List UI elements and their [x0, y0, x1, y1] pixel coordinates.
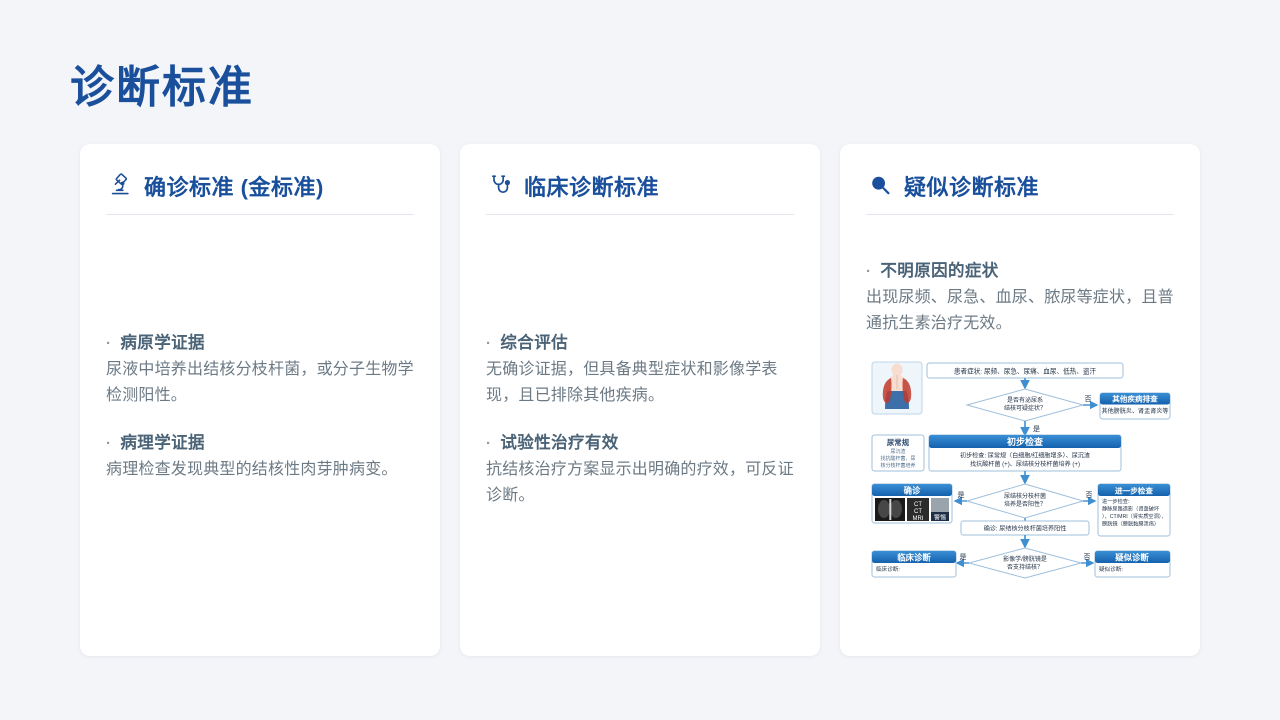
bullet-item: · 病理学证据 病理检查发现典型的结核性肉芽肿病变。 [106, 429, 414, 483]
card-title: 临床诊断标准 [524, 170, 659, 202]
flow-decision2-line2: 培养是否阳性？ [1004, 500, 1046, 508]
flow-symptoms-text: 患者症状: 尿频、尿急、尿痛、血尿、低热、盗汗 [954, 366, 1097, 375]
flow-further-l3: ）、CT/MRI（肾实质空洞）、 [1102, 512, 1167, 520]
flow-further-l4: 膀胱镜（膀胱黏膜溃疡） [1102, 519, 1159, 527]
bullet-item: · 不明原因的症状 出现尿频、尿急、血尿、脓尿等症状，且普通抗生素治疗无效。 [866, 257, 1174, 337]
bullet-list: · 病原学证据 尿液中培养出结核分枝杆菌，或分子生物学检测阳性。 · 病理学证据… [106, 329, 414, 503]
page-title: 诊断标准 [70, 62, 254, 115]
bullet-heading-row: · 不明原因的症状 [866, 257, 1174, 281]
flow-edge-no-1: 否 [1085, 395, 1092, 403]
card-title: 确诊标准 (金标准) [144, 170, 324, 202]
flow-decision3-line2: 否支持结核？ [1007, 563, 1043, 571]
card-title: 疑似诊断标准 [904, 170, 1039, 202]
card-confirmed-diagnosis[interactable]: 确诊标准 (金标准) · 病原学证据 尿液中培养出结核分枝杆菌，或分子生物学检测… [80, 144, 440, 656]
flow-clinical-title: 临床诊断 [897, 552, 931, 562]
chest-xray-ct-mri-thumbnails: CT CT MRI 警惕 [875, 498, 949, 522]
bullet-heading: 综合评估 [500, 329, 568, 353]
bullet-heading: 病理学证据 [120, 429, 205, 453]
bullet-dot-icon: · [106, 336, 111, 351]
flow-decision1-line1: 是否有泌尿系 [1007, 396, 1043, 404]
card-header: 疑似诊断标准 [866, 170, 1174, 215]
bullet-heading-row: · 病原学证据 [106, 329, 414, 353]
flow-other-disease-body: 其他膀胱炎、肾盂肾炎等 [1101, 407, 1168, 415]
flow-further-title: 进一步检查 [1115, 485, 1153, 495]
flow-edge-no-2: 否 [1086, 491, 1093, 499]
card-header: 确诊标准 (金标准) [106, 170, 414, 215]
flow-decision2-line1: 尿结核分枝杆菌 [1004, 492, 1046, 500]
flow-further-l1: 进一步检查: [1102, 497, 1129, 505]
flow-node-symptoms: 患者症状: 尿频、尿急、尿痛、血尿、低热、盗汗 [927, 363, 1123, 378]
bullet-list: · 不明原因的症状 出现尿频、尿急、血尿、脓尿等症状，且普通抗生素治疗无效。 [866, 257, 1174, 343]
flow-decision3-line1: 影像学/膀胱镜是 [1003, 555, 1047, 563]
bullet-heading-row: · 病理学证据 [106, 429, 414, 453]
magnifier-icon [866, 172, 894, 200]
flow-suspect-body: 疑似诊断: [1099, 565, 1123, 573]
bullet-heading-row: · 试验性治疗有效 [486, 429, 794, 453]
bullet-body: 无确诊证据，但具备典型症状和影像学表现，且已排除其他疾病。 [486, 357, 794, 409]
flow-decision-imaging-support: 影像学/膀胱镜是 否支持结核？ [969, 548, 1081, 578]
flow-suspect-title: 疑似诊断 [1115, 552, 1149, 562]
bullet-body: 病理检查发现典型的结核性肉芽肿病变。 [106, 457, 414, 483]
flow-node-suspected-diagnosis: 疑似诊断 疑似诊断: [1095, 551, 1170, 577]
flow-decision-suspected-symptoms: 是否有泌尿系 结核可疑症状？ [967, 389, 1083, 421]
flow-urine-side-l2: 找抗酸杆菌、尿 [880, 455, 915, 462]
microscope-icon [106, 172, 134, 200]
flow-decision-culture-positive: 尿结核分枝杆菌 培养是否阳性？ [967, 484, 1083, 518]
flow-node-further-exam: 进一步检查 进一步检查: 静脉尿路造影（肾盏破坏 ）、CT/MRI（肾实质空洞）… [1098, 484, 1170, 536]
bullet-dot-icon: · [866, 264, 871, 279]
flow-confirm-ct2: CT [914, 509, 922, 515]
flow-confirm-body-text: 确诊: 尿结核分枝杆菌培养阳性 [984, 524, 1067, 532]
bullet-dot-icon: · [486, 436, 491, 451]
bullet-dot-icon: · [486, 336, 491, 351]
flow-confirm-mri: MRI [913, 516, 924, 522]
flow-urine-side-l1: 尿沉渣 [890, 448, 905, 455]
bullet-heading: 试验性治疗有效 [500, 429, 618, 453]
flow-initial-l1: 初步检查: 尿常规（白细胞/红细胞增多）、尿沉渣 [960, 451, 1090, 459]
cards-container: 确诊标准 (金标准) · 病原学证据 尿液中培养出结核分枝杆菌，或分子生物学检测… [80, 144, 1200, 656]
flow-edge-yes-3: 是 [960, 553, 967, 561]
flow-confirm-title: 确诊 [904, 485, 921, 495]
flow-urine-side-l3: 核分枝杆菌培养 [880, 462, 915, 469]
bullet-body: 抗结核治疗方案显示出明确的疗效，可反证诊断。 [486, 457, 794, 509]
card-clinical-diagnosis[interactable]: 临床诊断标准 · 综合评估 无确诊证据，但具备典型症状和影像学表现，且已排除其他… [460, 144, 820, 656]
flow-confirm-warn: 警惕 [934, 513, 946, 521]
bullet-heading: 病原学证据 [120, 329, 205, 353]
flow-urine-side-title: 尿常规 [887, 438, 910, 447]
bullet-heading: 不明原因的症状 [880, 257, 998, 281]
bullet-list: · 综合评估 无确诊证据，但具备典型症状和影像学表现，且已排除其他疾病。 · 试… [486, 329, 794, 529]
flow-node-initial-exam: 初步检查 初步检查: 尿常规（白细胞/红细胞增多）、尿沉渣 找抗酸杆菌 (+)、… [929, 435, 1121, 471]
card-spacer [106, 215, 414, 311]
bullet-item: · 综合评估 无确诊证据，但具备典型症状和影像学表现，且已排除其他疾病。 [486, 329, 794, 409]
flow-node-other-disease: 其他疾病排查 其他膀胱炎、肾盂肾炎等 [1100, 393, 1170, 419]
slide-root: 诊断标准 确诊标准 (金标准) [0, 0, 1280, 720]
bullet-item: · 病原学证据 尿液中培养出结核分枝杆菌，或分子生物学检测阳性。 [106, 329, 414, 409]
flow-node-confirm: 确诊 CT CT MRI 警惕 [872, 484, 952, 523]
card-header: 临床诊断标准 [486, 170, 794, 215]
flow-node-urine-routine: 尿常规 尿沉渣 找抗酸杆菌、尿 核分枝杆菌培养 [872, 435, 924, 471]
flow-node-clinical-diagnosis: 临床诊断 临床诊断: [872, 551, 956, 577]
bullet-dot-icon: · [106, 436, 111, 451]
flow-decision1-line2: 结核可疑症状？ [1004, 404, 1046, 412]
flow-confirm-ct1: CT [914, 502, 922, 508]
anatomy-torso-lungs-image [872, 362, 922, 414]
flow-initial-l2: 找抗酸杆菌 (+)、尿结核分枝杆菌培养 (+) [970, 460, 1080, 468]
flow-edge-no-3: 否 [1084, 553, 1091, 561]
bullet-body: 出现尿频、尿急、血尿、脓尿等症状，且普通抗生素治疗无效。 [866, 285, 1174, 337]
bullet-body: 尿液中培养出结核分枝杆菌，或分子生物学检测阳性。 [106, 357, 414, 409]
flow-edge-yes-2: 是 [958, 491, 965, 499]
bullet-item: · 试验性治疗有效 抗结核治疗方案显示出明确的疗效，可反证诊断。 [486, 429, 794, 509]
stethoscope-icon [486, 172, 514, 200]
flow-other-disease-title: 其他疾病排查 [1112, 393, 1158, 403]
flow-initial-title: 初步检查 [1007, 436, 1044, 447]
flow-further-l2: 静脉尿路造影（肾盏破坏 [1102, 504, 1160, 512]
bullet-heading-row: · 综合评估 [486, 329, 794, 353]
flow-clinical-body: 临床诊断: [876, 565, 900, 573]
diagnosis-flowchart: 患者症状: 尿频、尿急、尿痛、血尿、低热、盗汗 是否有泌尿系 结核可疑症状？ 否 [869, 357, 1171, 607]
flow-edge-yes-1: 是 [1033, 425, 1040, 433]
card-suspected-diagnosis[interactable]: 疑似诊断标准 · 不明原因的症状 出现尿频、尿急、血尿、脓尿等症状，且普通抗生素… [840, 144, 1200, 656]
flowchart-container[interactable]: 患者症状: 尿频、尿急、尿痛、血尿、低热、盗汗 是否有泌尿系 结核可疑症状？ 否 [866, 357, 1174, 636]
flow-node-confirm-body: 确诊: 尿结核分枝杆菌培养阳性 [961, 521, 1089, 535]
card-spacer [486, 215, 794, 311]
